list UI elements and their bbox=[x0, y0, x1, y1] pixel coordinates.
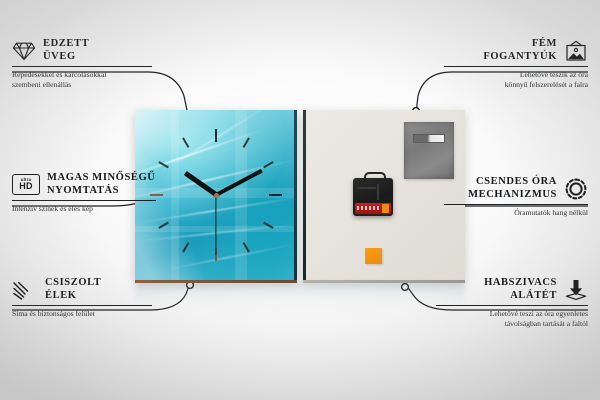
clock-hands-hub bbox=[214, 193, 219, 198]
feature-title-line2: ÜVEG bbox=[43, 51, 89, 64]
clock-face bbox=[135, 110, 297, 280]
feature-divider bbox=[444, 66, 588, 67]
picture-frame-hanger-icon bbox=[564, 40, 588, 62]
polished-edges-icon bbox=[12, 280, 38, 300]
feature-title-line2: ALÁTÉT bbox=[484, 290, 557, 303]
feature-header: EDZETT ÜVEG bbox=[12, 38, 152, 63]
feature-header: CSENDES ÓRA MECHANIZMUS bbox=[444, 176, 588, 201]
feature-description-line1: Óramutatók hang nélkül bbox=[444, 208, 588, 218]
feature-description: Repedésekkel és karcolásokkal szembeni e… bbox=[12, 70, 152, 89]
feature-title-line1: HABSZIVACS bbox=[484, 277, 557, 290]
feature-divider bbox=[444, 204, 588, 205]
product-image bbox=[135, 110, 465, 280]
feature-foam-pad: HABSZIVACS ALÁTÉT Lehetővé teszi az óra … bbox=[436, 277, 588, 328]
hanger-slot bbox=[413, 134, 445, 143]
feature-title-line1: MAGAS MINŐSÉGŰ bbox=[47, 172, 155, 185]
battery-text bbox=[357, 206, 381, 210]
feature-description-line2: könnyű felszerelését a falra bbox=[444, 80, 588, 90]
ultra-hd-badge-icon: ultra HD bbox=[12, 174, 40, 195]
feature-description-line2: szembeni ellenállás bbox=[12, 80, 152, 90]
feature-description-line1: Intenzív színek és éles kép bbox=[12, 204, 156, 214]
clock-tick bbox=[150, 194, 216, 196]
arrow-onto-pad-icon bbox=[564, 278, 588, 302]
quartz-clock-mechanism bbox=[353, 178, 393, 216]
feature-title-line1: EDZETT bbox=[43, 38, 89, 51]
product-reflection bbox=[135, 282, 465, 316]
feature-divider bbox=[12, 305, 152, 306]
foam-spacer-pad bbox=[365, 248, 382, 264]
feature-title-line1: FÉM bbox=[483, 38, 557, 51]
metal-hanger-plate bbox=[404, 122, 454, 179]
printed-glass-clock-face bbox=[135, 110, 297, 280]
infographic-canvas: EDZETT ÜVEG Repedésekkel és karcolásokka… bbox=[0, 0, 600, 400]
battery-plus-terminal bbox=[382, 204, 389, 213]
feature-polished-edges: CSISZOLT ÉLEK Sima és biztonságos felüle… bbox=[12, 277, 152, 319]
feature-divider bbox=[436, 305, 588, 306]
feature-description: Óramutatók hang nélkül bbox=[444, 208, 588, 218]
feature-tempered-glass: EDZETT ÜVEG Repedésekkel és karcolásokka… bbox=[12, 38, 152, 89]
feature-silent-clock-mechanism: CSENDES ÓRA MECHANIZMUS Óramutatók hang … bbox=[444, 176, 588, 218]
battery-label bbox=[355, 203, 391, 214]
clock-tick bbox=[158, 194, 216, 229]
feature-description-line1: Repedésekkel és karcolásokkal bbox=[12, 70, 152, 80]
clock-reverse-side bbox=[303, 110, 465, 280]
clock-tick bbox=[216, 194, 282, 196]
badge-large-text: HD bbox=[19, 182, 33, 191]
feature-description: Lehetővé teszi az óra egyenletes távolsá… bbox=[436, 309, 588, 328]
feature-description-line1: Lehetővé teszi az óra egyenletes bbox=[436, 309, 588, 319]
feature-title: EDZETT ÜVEG bbox=[43, 38, 89, 63]
feature-title: MAGAS MINŐSÉGŰ NYOMTATÁS bbox=[47, 172, 155, 197]
feature-description-line1: Sima és biztonságos felület bbox=[12, 309, 152, 319]
feature-metal-handles: FÉM FOGANTYÚK Lehetővé teszik az óra kön… bbox=[444, 38, 588, 89]
feature-title-line1: CSISZOLT bbox=[45, 277, 101, 290]
mechanism-seam bbox=[357, 187, 376, 189]
feature-title-line1: CSENDES ÓRA bbox=[468, 176, 557, 189]
glass-edge bbox=[303, 110, 306, 280]
feature-description: Intenzív színek és éles kép bbox=[12, 204, 156, 214]
gear-icon bbox=[564, 177, 588, 201]
feature-title-line2: NYOMTATÁS bbox=[47, 185, 155, 198]
mechanism-seam bbox=[377, 184, 379, 200]
feature-divider bbox=[12, 200, 156, 201]
feature-title: CSISZOLT ÉLEK bbox=[45, 277, 101, 302]
feature-header: CSISZOLT ÉLEK bbox=[12, 277, 152, 302]
feature-description-line1: Lehetővé teszik az óra bbox=[444, 70, 588, 80]
feature-title: CSENDES ÓRA MECHANIZMUS bbox=[468, 176, 557, 201]
feature-description-line2: távolságban tartását a faltól bbox=[436, 319, 588, 329]
feature-description: Sima és biztonságos felület bbox=[12, 309, 152, 319]
feature-description: Lehetővé teszik az óra könnyű felszerelé… bbox=[444, 70, 588, 89]
feature-header: ultra HD MAGAS MINŐSÉGŰ NYOMTATÁS bbox=[12, 172, 156, 197]
feature-high-quality-print: ultra HD MAGAS MINŐSÉGŰ NYOMTATÁS Intenz… bbox=[12, 172, 156, 214]
feature-header: FÉM FOGANTYÚK bbox=[444, 38, 588, 63]
feature-title-line2: FOGANTYÚK bbox=[483, 51, 557, 64]
feature-title: HABSZIVACS ALÁTÉT bbox=[484, 277, 557, 302]
feature-title-line2: ÉLEK bbox=[45, 290, 101, 303]
diamond-icon bbox=[12, 41, 36, 61]
clock-tick bbox=[215, 129, 217, 195]
feature-title: FÉM FOGANTYÚK bbox=[483, 38, 557, 63]
feature-divider bbox=[12, 66, 152, 67]
feature-header: HABSZIVACS ALÁTÉT bbox=[436, 277, 588, 302]
mechanism-hook bbox=[364, 172, 386, 183]
feature-title-line2: MECHANIZMUS bbox=[468, 189, 557, 202]
